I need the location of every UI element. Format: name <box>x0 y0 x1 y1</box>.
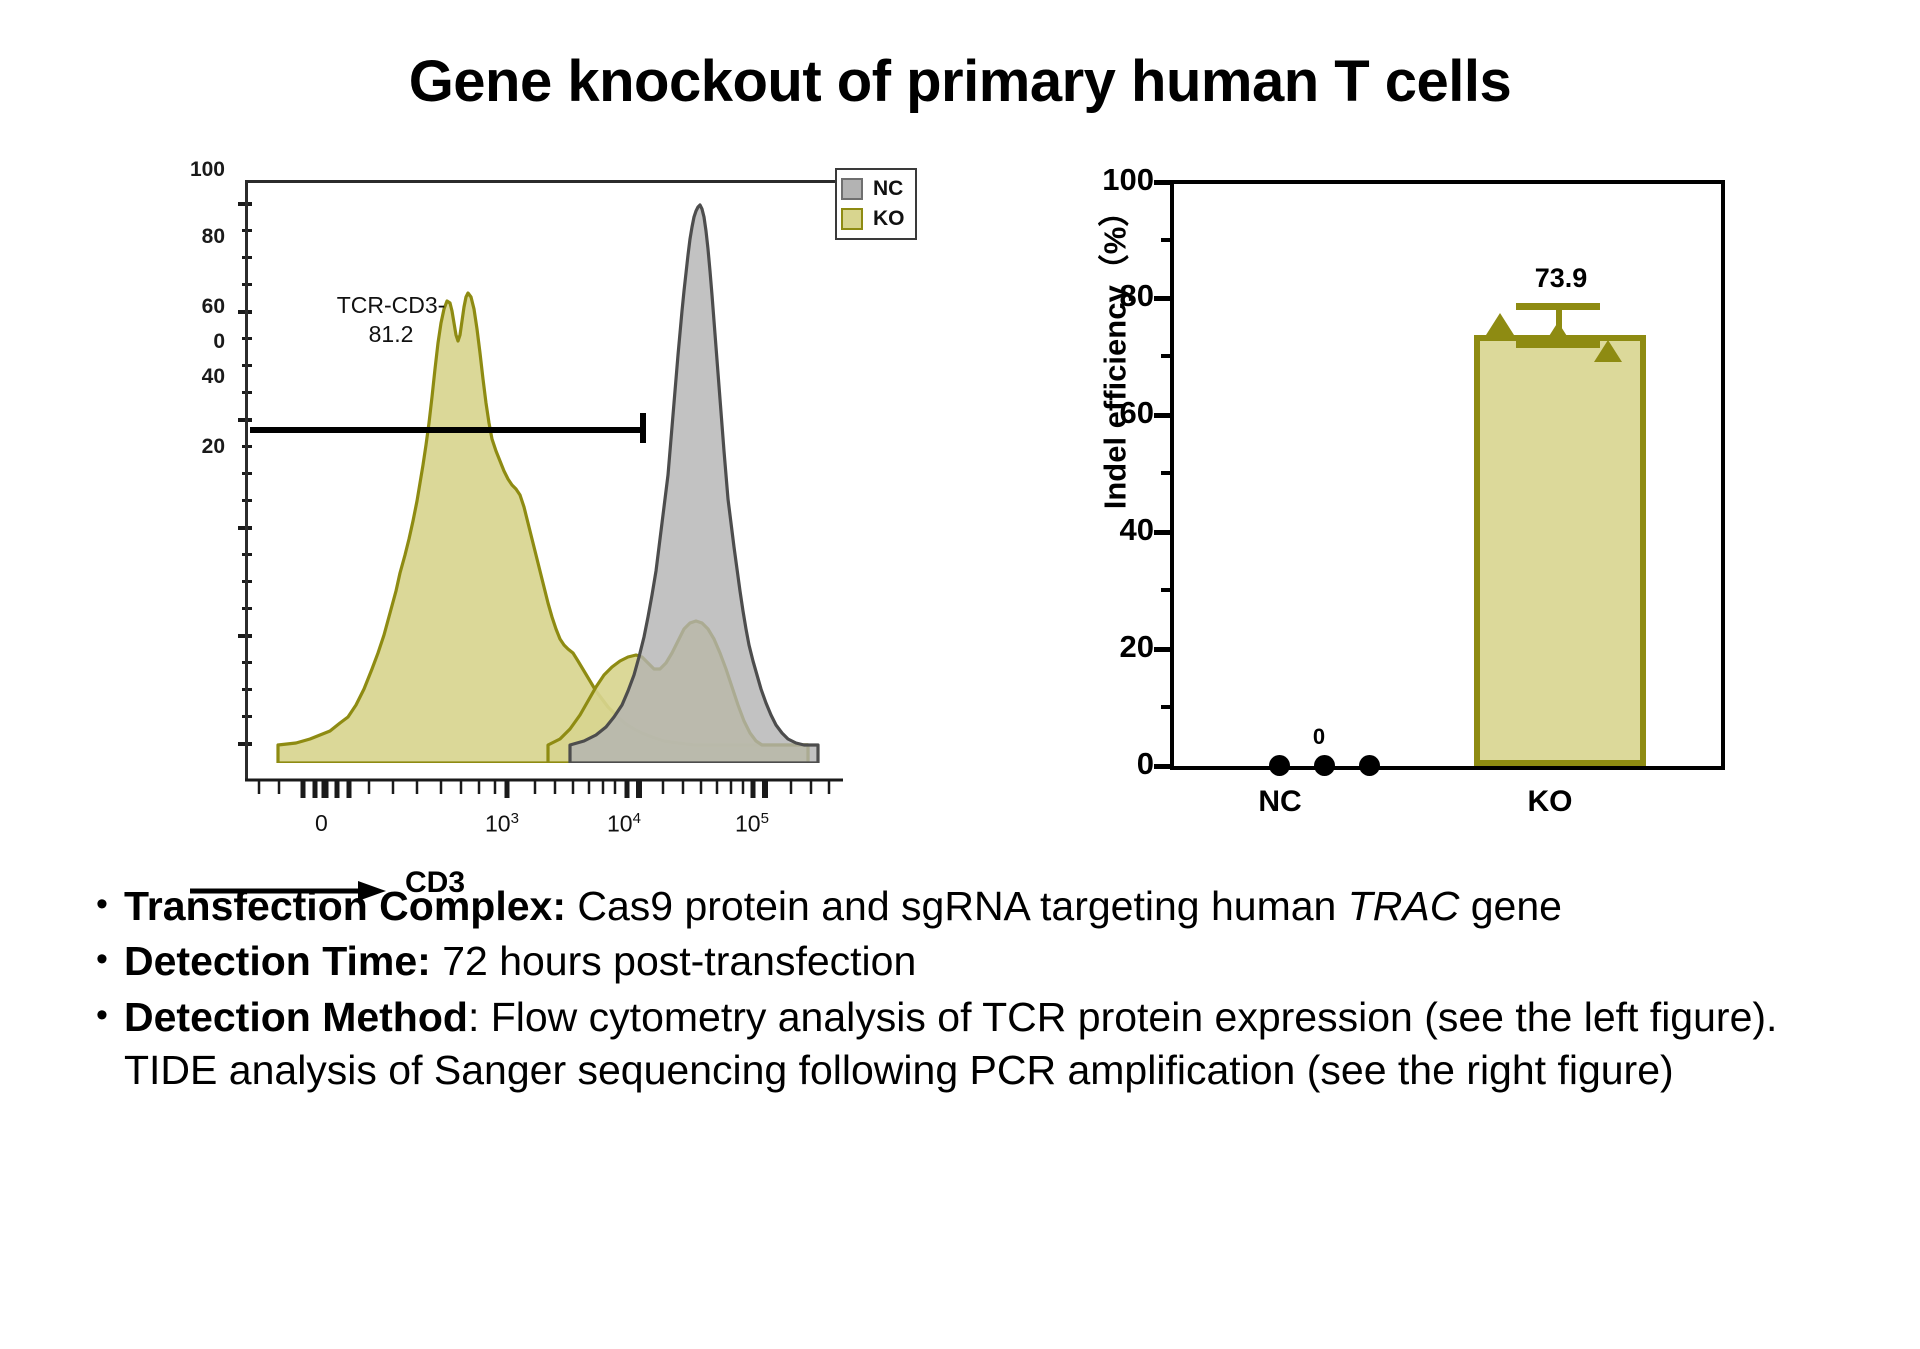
histogram-svg <box>248 183 840 763</box>
legend-item-ko: KO <box>841 204 905 234</box>
flow-xtick-label-1e5: 105 <box>735 810 769 838</box>
datapoint-nc-2 <box>1314 755 1335 776</box>
bullet-bold: Detection Method <box>124 994 468 1040</box>
bullet-bold: Detection Time: <box>124 938 431 984</box>
bar-ytick-label-60: 60 <box>1078 395 1154 431</box>
bar-yaxis-title: Indel efficiency（%） <box>1090 183 1135 523</box>
gate-line <box>250 427 646 433</box>
figures-row: 0 20 40 60 80 100 .flow .flow-ylab[data-… <box>0 160 1920 880</box>
legend-swatch-nc-icon <box>841 178 863 200</box>
bar-ytick-label-20: 20 <box>1078 629 1154 665</box>
slide: Gene knockout of primary human T cells 0… <box>0 0 1920 1349</box>
bar-ytick-label-80: 80 <box>1078 278 1154 314</box>
gate-label-line2: 81.2 <box>296 320 486 349</box>
bullet-marker-icon: • <box>80 880 124 929</box>
flow-ytick-label-20: 20 <box>155 435 225 459</box>
legend-item-nc: NC <box>841 174 905 204</box>
bar-category-label-ko: KO <box>1485 785 1615 819</box>
bar-plot-area: 73.9 0 <box>1170 180 1725 770</box>
flow-xtick-label-0: 0 <box>315 810 328 837</box>
bullet-text: Detection Method: Flow cytometry analysi… <box>124 991 1870 1098</box>
datapoint-nc-1 <box>1269 755 1290 776</box>
bullet-marker-icon: • <box>80 935 124 984</box>
indel-efficiency-figure: Indel efficiency（%） 100 80 60 40 20 0 <box>1020 170 1740 870</box>
flow-cytometry-figure: 0 20 40 60 80 100 .flow .flow-ylab[data-… <box>95 180 775 880</box>
bullet-text: Transfection Complex: Cas9 protein and s… <box>124 880 1870 933</box>
bullet-text: Detection Time: 72 hours post-transfecti… <box>124 935 1870 988</box>
list-item: • Detection Method: Flow cytometry analy… <box>80 991 1870 1098</box>
list-item: • Detection Time: 72 hours post-transfec… <box>80 935 1870 988</box>
flow-xtick-label-1e3: 103 <box>485 810 519 838</box>
bullet-list: • Transfection Complex: Cas9 protein and… <box>80 880 1870 1099</box>
bar-ytick-label-40: 40 <box>1078 512 1154 548</box>
flow-plot-area: TCR-CD3- 81.2 <box>245 180 840 780</box>
legend-label-ko: KO <box>873 207 905 231</box>
flow-ytick-label-40: 40 <box>155 365 225 389</box>
flow-legend: NC KO <box>835 168 917 240</box>
flow-xaxis-labels: 0 103 104 105 <box>245 800 845 860</box>
legend-label-nc: NC <box>873 177 903 201</box>
datapoint-ko-2 <box>1544 322 1572 344</box>
bullet-marker-icon: • <box>80 991 124 1040</box>
gate-cap <box>640 413 646 443</box>
bar-ytick-label-0: 0 <box>1078 746 1154 782</box>
bullet-bold: Transfection Complex: <box>124 883 566 929</box>
bullet-rest-a: 72 hours post-transfection <box>431 938 916 984</box>
page-title: Gene knockout of primary human T cells <box>0 48 1920 115</box>
flow-ytick-label-100: 100 <box>155 158 225 182</box>
datapoint-ko-1 <box>1486 313 1514 335</box>
bullet-rest-b: gene <box>1459 883 1562 929</box>
datapoint-ko-3 <box>1594 340 1622 362</box>
flow-ytick-label-0: 0 <box>155 330 225 354</box>
list-item: • Transfection Complex: Cas9 protein and… <box>80 880 1870 933</box>
flow-xtick-label-1e4: 104 <box>607 810 641 838</box>
errorbar-ko-cap-top <box>1516 303 1600 310</box>
bar-category-label-nc: NC <box>1215 785 1345 819</box>
gate-label: TCR-CD3- 81.2 <box>296 291 486 349</box>
bar-ytick-label-100: 100 <box>1078 162 1154 198</box>
bullet-rest-a: Cas9 protein and sgRNA targeting human <box>566 883 1348 929</box>
bar-value-label-nc: 0 <box>1279 724 1359 750</box>
flow-ytick-label-80: 80 <box>155 225 225 249</box>
bullet-italic: TRAC <box>1348 883 1460 929</box>
gate-label-line1: TCR-CD3- <box>296 291 486 320</box>
bar-value-label-ko: 73.9 <box>1486 263 1636 294</box>
flow-ytick-label-60: 60 <box>155 295 225 319</box>
bar-ko[interactable] <box>1474 335 1646 766</box>
legend-swatch-ko-icon <box>841 208 863 230</box>
datapoint-nc-3 <box>1359 755 1380 776</box>
